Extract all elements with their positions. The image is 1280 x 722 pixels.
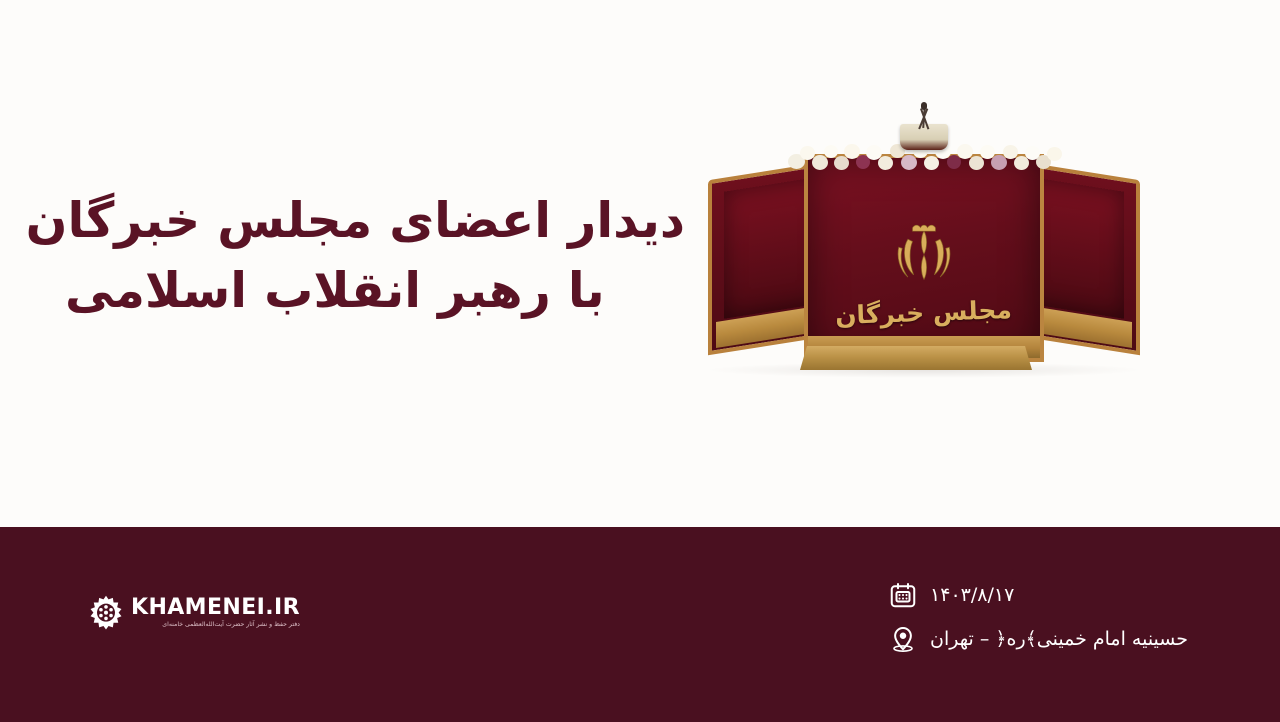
map-pin-icon (888, 624, 918, 654)
meta-date-row: ۱۴۰۳/۸/۱۷ (888, 580, 1188, 610)
page-title: دیدار اعضای مجلس خبرگان با رهبر انقلاب ا… (65, 186, 685, 325)
title-line-1: دیدار اعضای مجلس خبرگان (65, 186, 685, 256)
khamenei-gear-emblem-icon (88, 595, 124, 631)
logo-subtitle: دفتر حفظ و نشر آثار حضرت آیت‌الله‌العظمی… (131, 622, 300, 628)
title-line-2: با رهبر انقلاب اسلامی (65, 256, 685, 326)
event-date: ۱۴۰۳/۸/۱۷ (930, 584, 1014, 606)
event-meta: ۱۴۰۳/۸/۱۷ حسینیه امام خمینی﴾ره﴿ – تهران (888, 580, 1188, 654)
podium-front-panel: مجلس خبرگان رهبری (804, 154, 1044, 362)
podium-photo: مجلس خبرگان رهبری (694, 118, 1154, 380)
calendar-icon (888, 580, 918, 610)
logo-wordmark: KHAMENEI.IR (131, 597, 300, 619)
event-card: دیدار اعضای مجلس خبرگان با رهبر انقلاب ا… (0, 0, 1280, 722)
podium-base (800, 346, 1032, 370)
event-location: حسینیه امام خمینی﴾ره﴿ – تهران (930, 628, 1188, 650)
meta-location-row: حسینیه امام خمینی﴾ره﴿ – تهران (888, 624, 1188, 654)
khamenei-logo[interactable]: KHAMENEI.IR دفتر حفظ و نشر آثار حضرت آیت… (88, 595, 300, 631)
microphone-icon (900, 124, 948, 150)
iran-emblem-icon (895, 222, 953, 284)
